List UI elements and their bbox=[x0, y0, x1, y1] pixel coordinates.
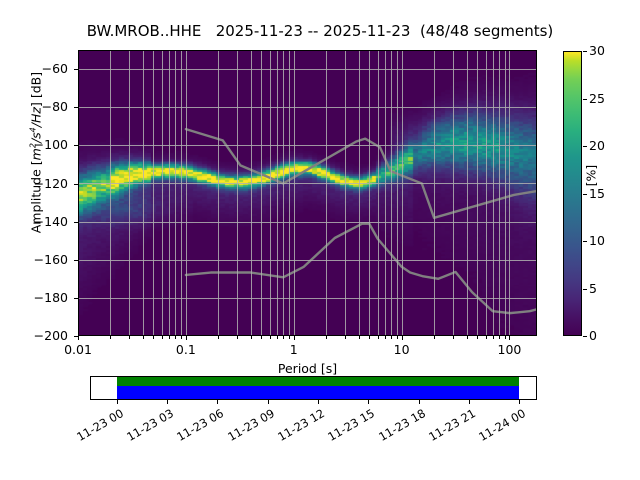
grid-line-vertical bbox=[294, 50, 295, 336]
grid-line-vertical bbox=[359, 50, 360, 336]
timeline-tick bbox=[117, 400, 118, 404]
colorbar-tick bbox=[583, 51, 587, 52]
x-tick-minor bbox=[391, 336, 392, 339]
grid-line-vertical bbox=[251, 50, 252, 336]
y-tick-mark bbox=[74, 298, 78, 299]
grid-line-vertical bbox=[289, 50, 290, 336]
x-tick-minor bbox=[129, 336, 130, 339]
y-tick-label: −100 bbox=[8, 137, 68, 152]
ppsd-plot-area[interactable] bbox=[78, 50, 537, 336]
x-tick-minor bbox=[110, 336, 111, 339]
y-tick-mark bbox=[74, 145, 78, 146]
x-tick-minor bbox=[453, 336, 454, 339]
y-tick-label: −80 bbox=[8, 99, 68, 114]
coverage-bar-green bbox=[117, 377, 519, 386]
grid-line-vertical bbox=[277, 50, 278, 336]
timeline-tick bbox=[519, 400, 520, 404]
x-tick-minor bbox=[270, 336, 271, 339]
x-tick-label: 1 bbox=[264, 342, 324, 357]
grid-line-vertical bbox=[78, 50, 79, 336]
x-tick-minor bbox=[289, 336, 290, 339]
x-tick-minor bbox=[251, 336, 252, 339]
y-tick-mark bbox=[74, 69, 78, 70]
grid-line-vertical bbox=[283, 50, 284, 336]
y-tick-label: −180 bbox=[8, 290, 68, 305]
page-title: BW.MROB..HHE 2025-11-23 -- 2025-11-23 (4… bbox=[0, 22, 640, 40]
colorbar-tick-label: 25 bbox=[589, 91, 605, 106]
x-tick-minor bbox=[467, 336, 468, 339]
grid-line-vertical bbox=[369, 50, 370, 336]
grid-line-vertical bbox=[453, 50, 454, 336]
grid-line-vertical bbox=[345, 50, 346, 336]
colorbar-tick bbox=[583, 241, 587, 242]
colorbar-label: [%] bbox=[584, 116, 599, 236]
timeline-tick bbox=[217, 400, 218, 404]
x-tick-minor bbox=[218, 336, 219, 339]
x-tick-major bbox=[186, 336, 187, 340]
timeline-tick bbox=[167, 400, 168, 404]
x-tick-label: 100 bbox=[479, 342, 539, 357]
timeline-tick bbox=[318, 400, 319, 404]
grid-line-vertical bbox=[153, 50, 154, 336]
grid-line-vertical bbox=[261, 50, 262, 336]
x-tick-minor bbox=[385, 336, 386, 339]
x-tick-minor bbox=[143, 336, 144, 339]
noise-model-nlnm bbox=[186, 224, 537, 314]
x-tick-label: 10 bbox=[372, 342, 432, 357]
colorbar-tick-label: 0 bbox=[589, 328, 597, 343]
colorbar-tick-label: 5 bbox=[589, 281, 597, 296]
grid-line-vertical bbox=[391, 50, 392, 336]
colorbar-tick bbox=[583, 289, 587, 290]
grid-line-vertical bbox=[499, 50, 500, 336]
noise-model-nhnm bbox=[186, 129, 537, 218]
grid-line-vertical bbox=[505, 50, 506, 336]
colorbar[interactable] bbox=[563, 51, 582, 336]
grid-line-horizontal bbox=[78, 145, 537, 146]
noise-model-curves bbox=[78, 50, 537, 336]
grid-line-vertical bbox=[129, 50, 130, 336]
x-axis-label: Period [s] bbox=[78, 361, 537, 376]
grid-line-horizontal bbox=[78, 222, 537, 223]
x-tick-minor bbox=[237, 336, 238, 339]
timeline-tick bbox=[419, 400, 420, 404]
timeline-tick bbox=[469, 400, 470, 404]
y-tick-label: −200 bbox=[8, 328, 68, 343]
x-tick-minor bbox=[181, 336, 182, 339]
y-tick-mark bbox=[74, 107, 78, 108]
y-tick-label: −60 bbox=[8, 61, 68, 76]
timeline-tick bbox=[368, 400, 369, 404]
x-tick-minor bbox=[162, 336, 163, 339]
x-tick-minor bbox=[434, 336, 435, 339]
grid-line-vertical bbox=[181, 50, 182, 336]
grid-line-vertical bbox=[486, 50, 487, 336]
y-tick-label: −160 bbox=[8, 252, 68, 267]
timeline-tick bbox=[268, 400, 269, 404]
grid-line-horizontal bbox=[78, 298, 537, 299]
grid-line-vertical bbox=[186, 50, 187, 336]
x-tick-minor bbox=[486, 336, 487, 339]
colorbar-tick bbox=[583, 336, 587, 337]
grid-line-vertical bbox=[143, 50, 144, 336]
x-tick-label: 0.1 bbox=[156, 342, 216, 357]
x-tick-major bbox=[294, 336, 295, 340]
grid-line-vertical bbox=[397, 50, 398, 336]
grid-line-vertical bbox=[467, 50, 468, 336]
y-tick-mark bbox=[74, 184, 78, 185]
x-tick-minor bbox=[153, 336, 154, 339]
grid-line-vertical bbox=[402, 50, 403, 336]
grid-line-vertical bbox=[162, 50, 163, 336]
x-tick-major bbox=[402, 336, 403, 340]
y-tick-label: −120 bbox=[8, 176, 68, 191]
y-tick-label: −140 bbox=[8, 214, 68, 229]
grid-line-vertical bbox=[509, 50, 510, 336]
x-tick-major bbox=[509, 336, 510, 340]
x-tick-minor bbox=[369, 336, 370, 339]
grid-line-horizontal bbox=[78, 107, 537, 108]
x-tick-major bbox=[78, 336, 79, 340]
x-tick-minor bbox=[397, 336, 398, 339]
grid-line-vertical bbox=[237, 50, 238, 336]
x-tick-minor bbox=[169, 336, 170, 339]
x-tick-minor bbox=[283, 336, 284, 339]
grid-line-vertical bbox=[378, 50, 379, 336]
x-tick-minor bbox=[326, 336, 327, 339]
x-tick-minor bbox=[499, 336, 500, 339]
grid-line-vertical bbox=[493, 50, 494, 336]
colorbar-tick bbox=[583, 99, 587, 100]
grid-line-vertical bbox=[270, 50, 271, 336]
grid-line-horizontal bbox=[78, 183, 537, 184]
grid-line-horizontal bbox=[78, 69, 537, 70]
grid-line-vertical bbox=[110, 50, 111, 336]
x-tick-minor bbox=[261, 336, 262, 339]
y-tick-mark bbox=[74, 222, 78, 223]
grid-line-vertical bbox=[326, 50, 327, 336]
y-tick-mark bbox=[74, 260, 78, 261]
x-tick-minor bbox=[175, 336, 176, 339]
grid-line-vertical bbox=[434, 50, 435, 336]
x-tick-minor bbox=[345, 336, 346, 339]
x-tick-minor bbox=[277, 336, 278, 339]
x-tick-minor bbox=[477, 336, 478, 339]
grid-line-vertical bbox=[218, 50, 219, 336]
colorbar-tick-label: 30 bbox=[589, 43, 605, 58]
grid-line-vertical bbox=[477, 50, 478, 336]
x-tick-minor bbox=[359, 336, 360, 339]
x-tick-label: 0.01 bbox=[48, 342, 108, 357]
grid-line-vertical bbox=[385, 50, 386, 336]
grid-line-vertical bbox=[175, 50, 176, 336]
grid-line-horizontal bbox=[78, 260, 537, 261]
x-tick-minor bbox=[493, 336, 494, 339]
x-tick-minor bbox=[505, 336, 506, 339]
data-coverage-timeline[interactable] bbox=[90, 376, 537, 400]
grid-line-vertical bbox=[169, 50, 170, 336]
x-tick-minor bbox=[378, 336, 379, 339]
coverage-bar-blue bbox=[117, 386, 519, 399]
